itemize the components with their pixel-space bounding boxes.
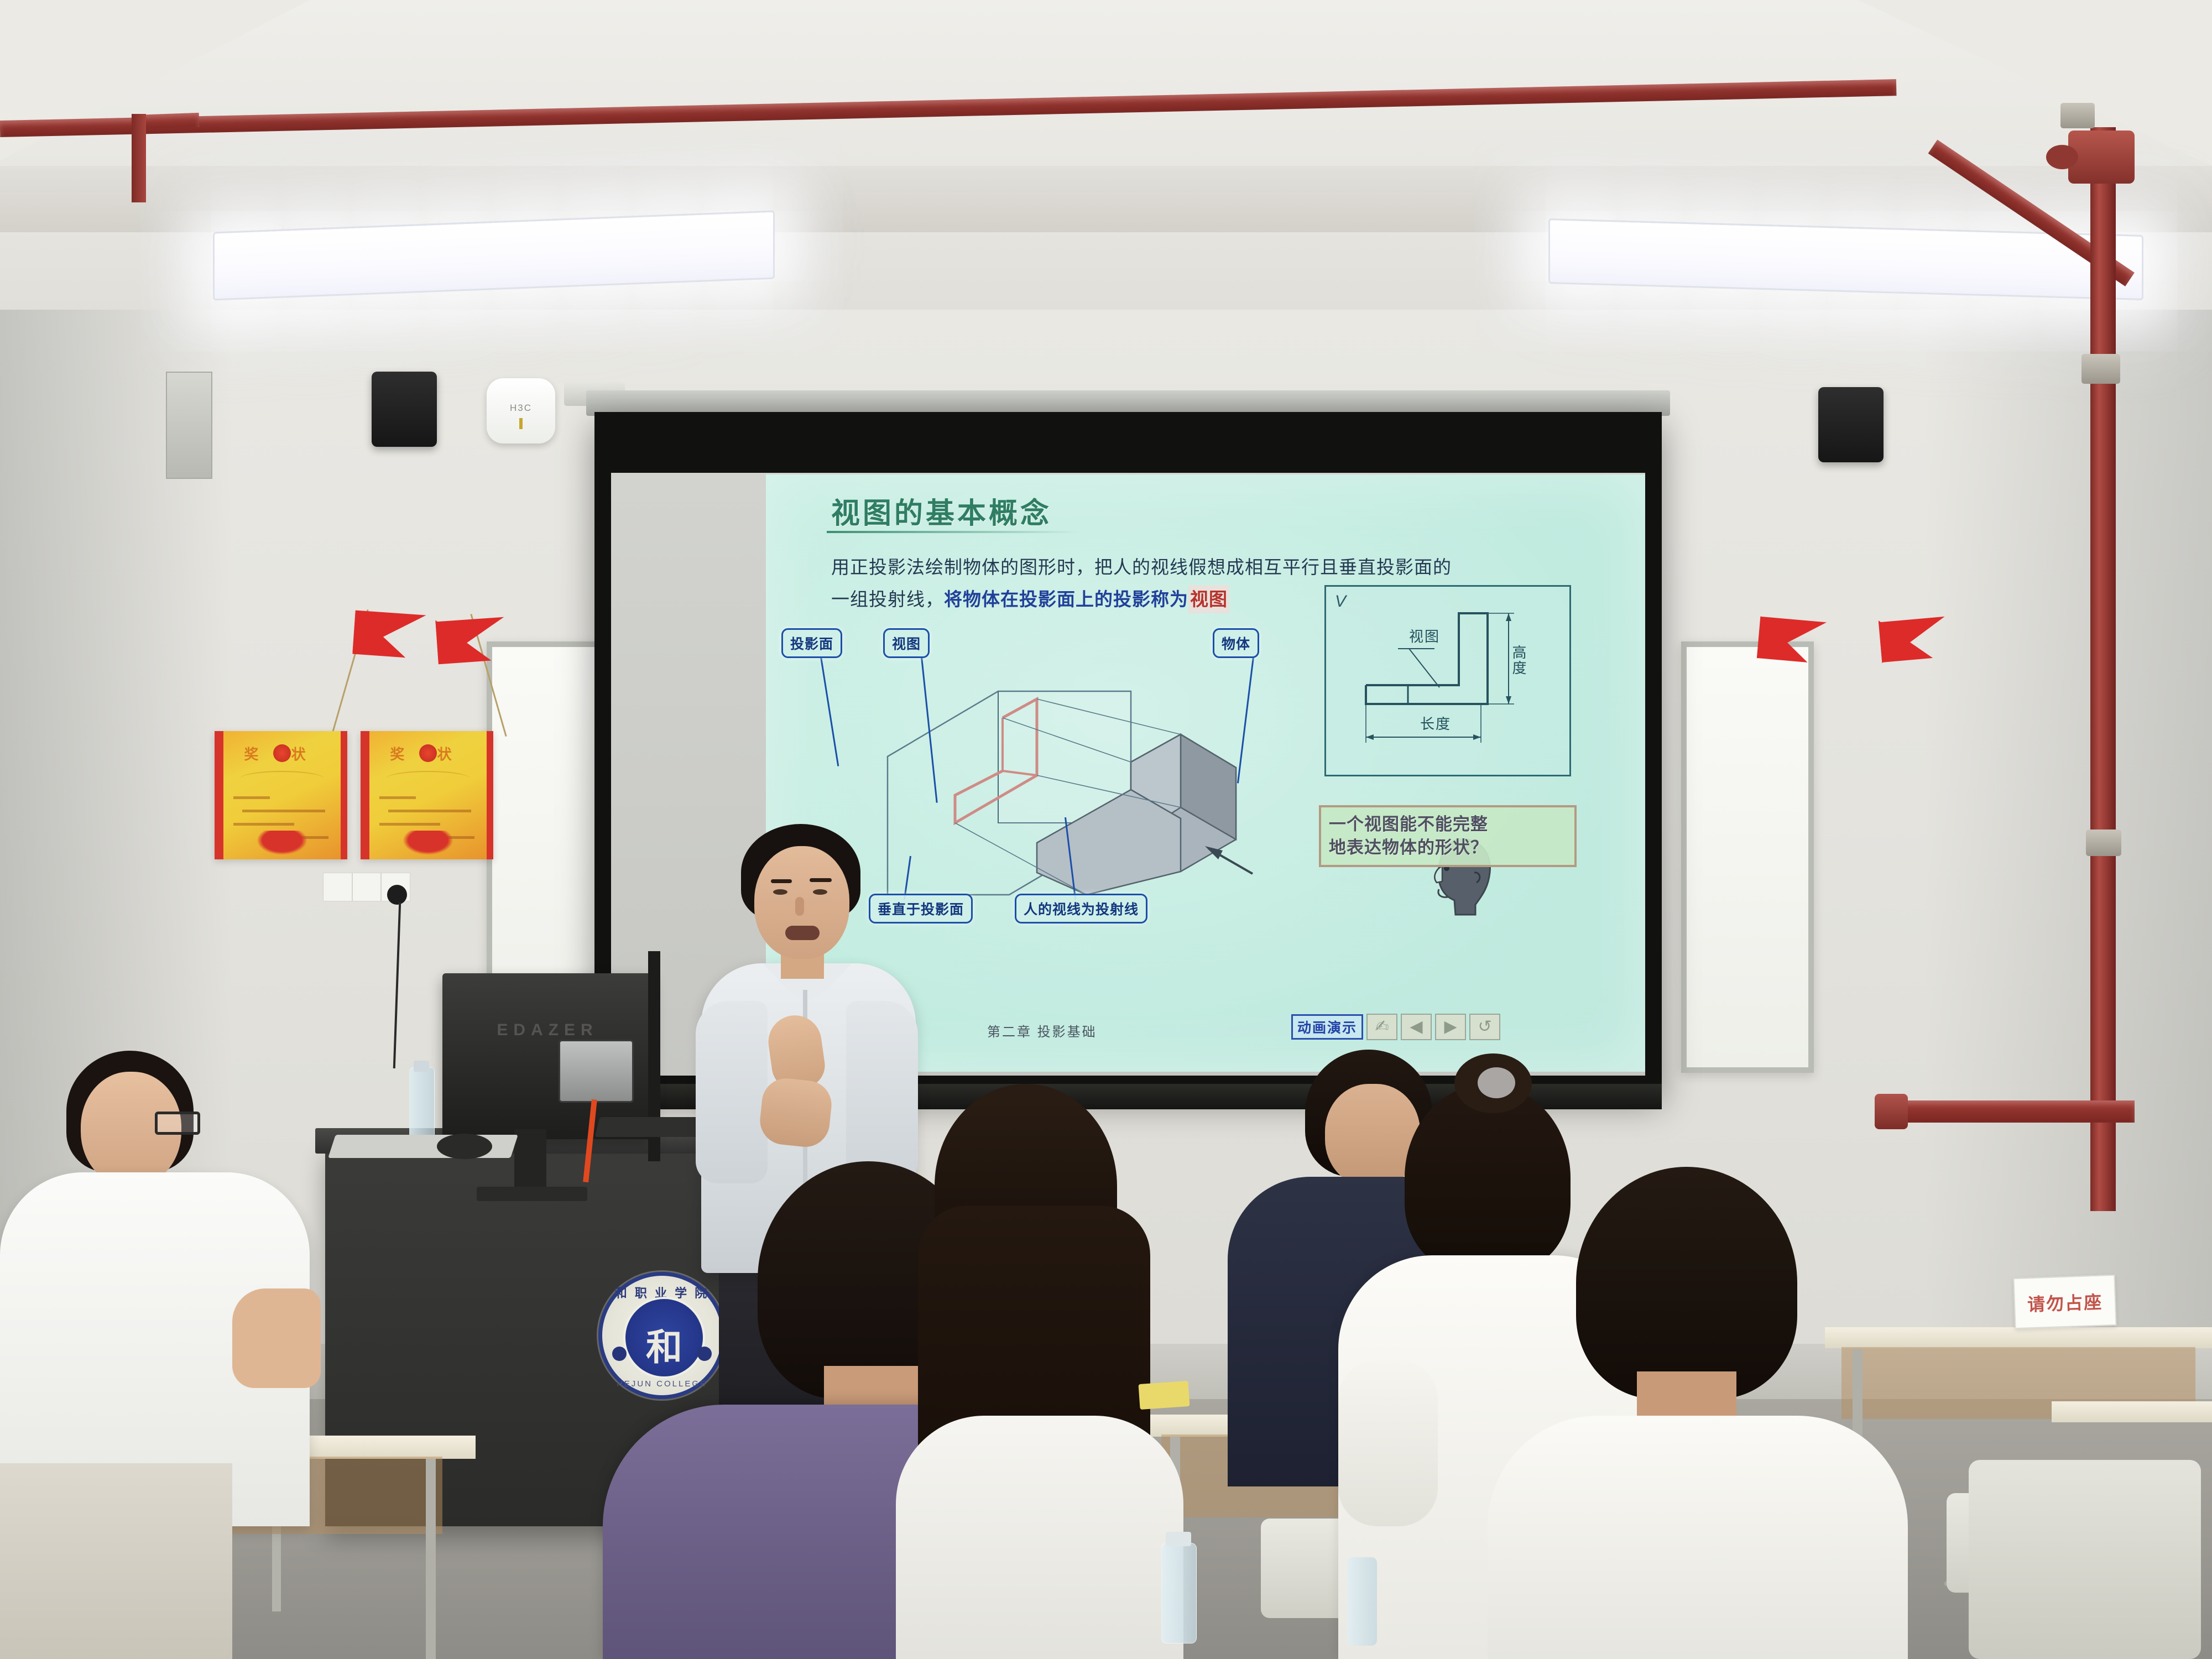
ceiling-beam xyxy=(0,166,2212,232)
nav-prev-button[interactable]: ◀ xyxy=(1401,1014,1432,1040)
wifi-access-point: H3C xyxy=(487,378,555,444)
headphones xyxy=(437,1134,492,1159)
desk-leg xyxy=(426,1459,436,1659)
monitor-brand-label: EDAZER xyxy=(442,1021,653,1040)
logo-dot xyxy=(612,1347,627,1361)
wall-speaker-left xyxy=(372,372,437,447)
presenter-arm-right xyxy=(846,1001,918,1183)
certificate-text-line xyxy=(233,823,294,826)
presenter-mouth xyxy=(785,926,820,940)
pipe-joint xyxy=(2086,830,2121,856)
callout-perpendicular: 垂直于投影面 xyxy=(869,894,973,924)
presenter-eye-right xyxy=(813,889,827,895)
award-certificate: 奖 状 xyxy=(215,731,347,859)
tech-height-label: 高度 xyxy=(1509,645,1529,676)
fire-pipe-drop xyxy=(132,114,146,202)
ceiling-soffit-left xyxy=(0,0,310,160)
hair-tie xyxy=(1478,1067,1515,1098)
fire-valve xyxy=(2068,131,2135,184)
chair xyxy=(1969,1460,2201,1659)
slide-title: 视图的基本概念 xyxy=(831,490,1052,531)
dress-sleeve xyxy=(1338,1360,1438,1526)
certificate-text-line xyxy=(379,823,440,826)
certificate-text-line xyxy=(379,796,416,799)
callout-projection-plane: 投影面 xyxy=(781,628,842,658)
valve-wheel-icon xyxy=(2046,145,2078,169)
pipe-joint xyxy=(2060,103,2095,128)
college-logo-character: 和 xyxy=(625,1318,703,1371)
presenter-nose xyxy=(795,897,804,916)
slide-body-line-2: 一组投射线， 将物体在投影面上的投影称为 视图 xyxy=(831,585,1229,613)
slide-chapter-footer: 第二章 投影基础 xyxy=(987,1021,1097,1040)
presenter-head xyxy=(754,846,849,959)
water-bottle xyxy=(1161,1543,1197,1644)
question-line-1: 一个视图能不能完整 xyxy=(1329,813,1567,836)
callout-view: 视图 xyxy=(883,628,930,658)
chinese-flag xyxy=(435,617,491,665)
chinese-flag xyxy=(352,611,408,658)
tech-length-label: 长度 xyxy=(1420,713,1451,733)
certificate-text-line xyxy=(233,796,270,799)
technical-drawing-panel: V 视图 长度 xyxy=(1324,585,1571,776)
fire-pipe-riser xyxy=(2090,127,2116,1211)
monitor-base xyxy=(477,1187,587,1201)
keyboard-secondary[interactable] xyxy=(595,1117,711,1137)
certificate-ribbon xyxy=(403,831,453,855)
slide-body-line-1: 用正投影法绘制物体的图形时，把人的视线假想成相互平行且垂直投影面的 xyxy=(831,553,1452,581)
presenter-eye-left xyxy=(773,889,787,895)
nav-restart-button[interactable]: ↺ xyxy=(1469,1014,1500,1040)
water-bottle xyxy=(409,1067,435,1146)
whiteboard-right xyxy=(1681,641,1814,1073)
presenter-hand-lower xyxy=(758,1076,834,1150)
certificate-text-line xyxy=(388,810,471,812)
tech-view-label: 视图 xyxy=(1409,625,1440,646)
fire-pipe-cap xyxy=(1875,1094,1908,1129)
wall-socket[interactable] xyxy=(352,873,382,901)
wall-dispenser xyxy=(166,372,212,479)
slide-nav-bar: 动画演示 ✍ ◀ ▶ ↺ xyxy=(1291,1014,1500,1040)
thin-client-box xyxy=(559,1040,634,1103)
award-certificate: 奖 状 xyxy=(361,731,493,859)
monitor-stand xyxy=(514,1129,546,1193)
body-line2-plain: 一组投射线， xyxy=(831,585,944,613)
student-hair xyxy=(1576,1167,1797,1399)
classroom-scene: H3C 奖 状 奖 状 xyxy=(0,0,2212,1659)
chinese-flag xyxy=(1879,616,1933,662)
glasses-icon xyxy=(155,1112,200,1135)
notebook xyxy=(1139,1381,1190,1410)
body-line2-red: 视图 xyxy=(1188,585,1229,613)
question-line-2: 地表达物体的形状？ xyxy=(1329,836,1567,859)
status-led-icon xyxy=(519,418,523,429)
access-point-brand-label: H3C xyxy=(487,403,555,414)
callout-sight-line: 人的视线为投射线 xyxy=(1015,894,1147,924)
callout-object: 物体 xyxy=(1213,628,1259,658)
bottle-cap xyxy=(414,1061,429,1072)
college-logo-inner-disc: 和 xyxy=(623,1297,705,1379)
certificate-ribbon xyxy=(257,831,307,855)
student-shorts xyxy=(0,1463,232,1659)
student-shirt xyxy=(1488,1416,1908,1659)
certificate-text-line xyxy=(242,810,325,812)
desk-placard-text: 请勿占座 xyxy=(2015,1288,2115,1317)
student-desk xyxy=(2052,1401,2212,1422)
presenter-eyebrow-right xyxy=(810,878,832,882)
power-plug xyxy=(387,885,407,905)
student-desk xyxy=(1825,1327,2212,1348)
water-bottle xyxy=(1347,1557,1377,1646)
nav-next-button[interactable]: ▶ xyxy=(1435,1014,1466,1040)
wall-shadow-right xyxy=(1924,310,2212,1416)
hand-pointer-icon[interactable]: ✍ xyxy=(1366,1014,1397,1040)
presenter-arm-left xyxy=(696,1001,768,1183)
student-arm xyxy=(232,1288,321,1388)
chinese-flag xyxy=(1757,616,1811,662)
animation-demo-button[interactable]: 动画演示 xyxy=(1291,1014,1363,1040)
desk-placard: 请勿占座 xyxy=(2013,1275,2116,1329)
logo-dot xyxy=(697,1347,712,1361)
pipe-joint xyxy=(2081,354,2120,384)
technical-drawing-svg xyxy=(1326,587,1569,775)
question-box: 一个视图能不能完整 地表达物体的形状？ xyxy=(1319,805,1577,867)
presenter-eyebrow-left xyxy=(771,879,792,883)
student-shirt xyxy=(896,1416,1183,1659)
national-emblem-icon xyxy=(273,744,291,762)
title-underline xyxy=(827,531,1081,533)
body-line2-blue: 将物体在投影面上的投影称为 xyxy=(944,585,1188,613)
college-logo-english-text: HEJUN COLLEGE xyxy=(602,1379,722,1389)
certificate-swirl xyxy=(386,771,471,786)
ceiling-soffit-right xyxy=(1858,0,2212,166)
wall-speaker-right xyxy=(1818,387,1884,462)
certificate-swirl xyxy=(240,771,325,786)
college-logo: 和 职 业 学 院 和 HEJUN COLLEGE xyxy=(598,1272,726,1399)
wall-socket[interactable] xyxy=(323,873,352,901)
fire-pipe-lower xyxy=(1897,1100,2135,1123)
national-emblem-icon xyxy=(419,744,437,762)
bottle-cap xyxy=(1166,1532,1191,1546)
